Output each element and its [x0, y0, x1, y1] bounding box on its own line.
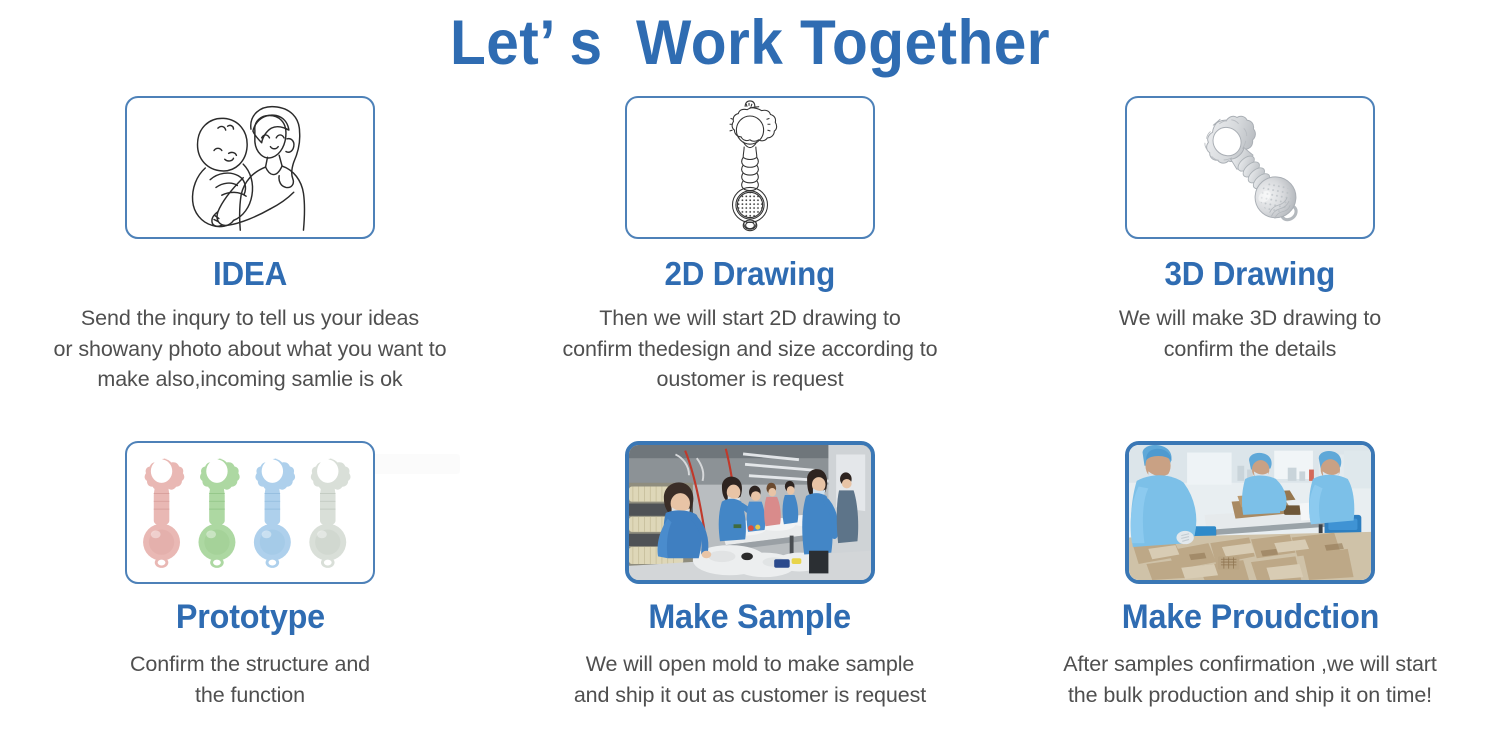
factory-workers-photo — [629, 445, 871, 580]
step-description: We will make 3D drawing to confirm the d… — [1119, 303, 1381, 364]
step-card-prototype: Prototype Confirm the structure and the … — [0, 441, 500, 738]
2d-drawing-illustration-card — [625, 96, 875, 239]
step-card-make-production: Make Proudction After samples confirmati… — [1000, 441, 1500, 738]
step-card-3d-drawing: 3D Drawing We will make 3D drawing to co… — [1000, 96, 1500, 441]
step-card-idea: IDEA Send the inqury to tell us your ide… — [0, 96, 500, 441]
make-sample-photo-card — [625, 441, 875, 584]
infographic-page: Let’ s Work Together — [0, 0, 1500, 738]
page-title: Let’ s Work Together — [53, 4, 1448, 83]
step-heading: Make Sample — [649, 598, 852, 637]
steps-grid: IDEA Send the inqury to tell us your ide… — [0, 96, 1500, 738]
step-heading: Make Proudction — [1121, 598, 1378, 637]
make-production-photo-card — [1125, 441, 1375, 584]
rattle-prototypes-colored-icon — [127, 443, 373, 582]
step-description: After samples confirmation ,we will star… — [1063, 649, 1436, 710]
step-heading: IDEA — [213, 255, 287, 293]
step-heading: 2D Drawing — [665, 255, 836, 293]
step-card-make-sample: Make Sample We will open mold to make sa… — [500, 441, 1000, 738]
step-description: Send the inqury to tell us your ideas or… — [54, 303, 447, 395]
packing-workers-photo — [1129, 445, 1371, 580]
step-heading: 3D Drawing — [1165, 255, 1336, 293]
prototype-illustration-card — [125, 441, 375, 584]
step-description: We will open mold to make sample and shi… — [574, 649, 926, 710]
mother-and-baby-lineart-icon — [127, 98, 373, 237]
step-card-2d-drawing: 2D Drawing Then we will start 2D drawing… — [500, 96, 1000, 441]
idea-illustration-card — [125, 96, 375, 239]
rattle-3d-render-icon — [1127, 98, 1373, 237]
step-description: Then we will start 2D drawing to confirm… — [563, 303, 938, 395]
rattle-2d-technical-drawing-icon — [627, 98, 873, 237]
step-description: Confirm the structure and the function — [130, 649, 370, 710]
3d-drawing-illustration-card — [1125, 96, 1375, 239]
step-heading: Prototype — [175, 598, 324, 637]
